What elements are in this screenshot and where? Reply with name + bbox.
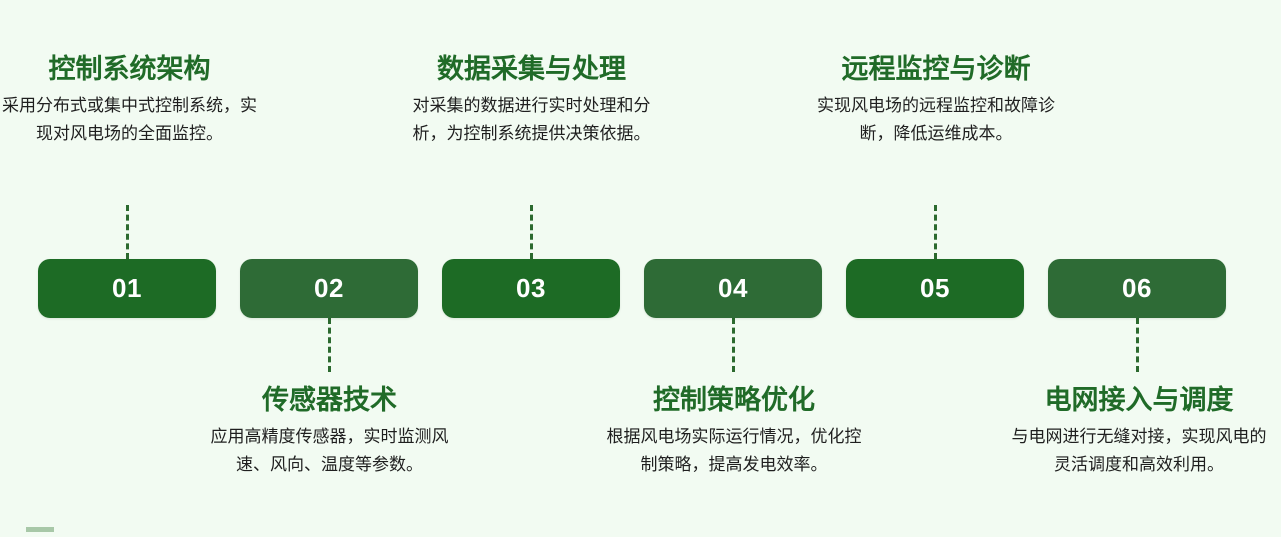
connector-down-02 (328, 318, 334, 372)
step-text-block-01: 控制系统架构 采用分布式或集中式控制系统，实现对风电场的全面监控。 (2, 52, 257, 148)
connector-up-01 (126, 205, 132, 259)
step-text-block-04: 控制策略优化 根据风电场实际运行情况，优化控制策略，提高发电效率。 (604, 383, 864, 479)
step-text-block-02: 传感器技术 应用高精度传感器，实时监测风速、风向、温度等参数。 (202, 383, 457, 479)
step-pill-03[interactable]: 03 (442, 259, 620, 318)
step-body-01: 采用分布式或集中式控制系统，实现对风电场的全面监控。 (2, 92, 257, 148)
step-body-06: 与电网进行无缝对接，实现风电的灵活调度和高效利用。 (1008, 423, 1270, 479)
step-text-block-05: 远程监控与诊断 实现风电场的远程监控和故障诊断，降低运维成本。 (806, 52, 1066, 148)
step-body-05: 实现风电场的远程监控和故障诊断，降低运维成本。 (806, 92, 1066, 148)
connector-up-05 (934, 205, 940, 259)
decorative-sliver (26, 527, 54, 532)
connector-up-03 (530, 205, 536, 259)
step-body-02: 应用高精度传感器，实时监测风速、风向、温度等参数。 (202, 423, 457, 479)
step-pill-row: 01 02 03 04 05 06 (38, 259, 1226, 318)
step-pill-06[interactable]: 06 (1048, 259, 1226, 318)
timeline-diagram: 控制系统架构 采用分布式或集中式控制系统，实现对风电场的全面监控。 数据采集与处… (0, 0, 1281, 537)
step-body-03: 对采集的数据进行实时处理和分析，为控制系统提供决策依据。 (404, 92, 659, 148)
step-pill-01[interactable]: 01 (38, 259, 216, 318)
connector-down-06 (1136, 318, 1142, 372)
step-pill-05[interactable]: 05 (846, 259, 1024, 318)
step-heading-04: 控制策略优化 (604, 383, 864, 417)
step-pill-04[interactable]: 04 (644, 259, 822, 318)
step-heading-01: 控制系统架构 (2, 52, 257, 86)
step-heading-05: 远程监控与诊断 (806, 52, 1066, 86)
step-pill-02[interactable]: 02 (240, 259, 418, 318)
step-heading-02: 传感器技术 (202, 383, 457, 417)
step-text-block-03: 数据采集与处理 对采集的数据进行实时处理和分析，为控制系统提供决策依据。 (404, 52, 659, 148)
connector-down-04 (732, 318, 738, 372)
step-body-04: 根据风电场实际运行情况，优化控制策略，提高发电效率。 (604, 423, 864, 479)
step-heading-06: 电网接入与调度 (1008, 383, 1270, 417)
step-text-block-06: 电网接入与调度 与电网进行无缝对接，实现风电的灵活调度和高效利用。 (1008, 383, 1270, 479)
step-heading-03: 数据采集与处理 (404, 52, 659, 86)
